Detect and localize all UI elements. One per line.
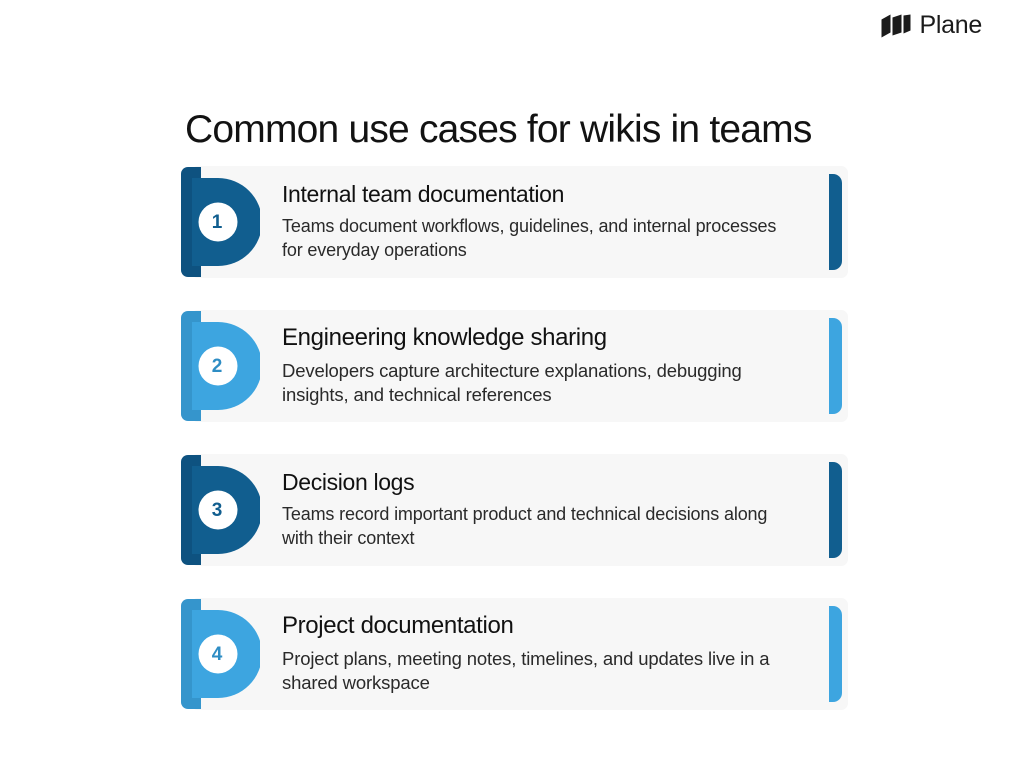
brand-name: Plane <box>920 13 982 38</box>
card-text: Engineering knowledge sharing Developers… <box>260 310 848 422</box>
card-text: Decision logs Teams record important pro… <box>260 454 848 566</box>
step-marker-icon: 3 <box>178 454 260 566</box>
card-description: Developers capture architecture explanat… <box>282 359 788 408</box>
accent-bar <box>829 462 842 558</box>
accent-bar <box>829 318 842 414</box>
step-marker-icon: 2 <box>178 310 260 422</box>
list-item: 1 Internal team documentation Teams docu… <box>178 166 848 278</box>
list-item: 2 Engineering knowledge sharing Develope… <box>178 310 848 422</box>
accent-bar <box>829 174 842 270</box>
card-description: Project plans, meeting notes, timelines,… <box>282 647 788 696</box>
card-title: Engineering knowledge sharing <box>282 324 788 353</box>
card-text: Project documentation Project plans, mee… <box>260 598 848 710</box>
plane-logo-icon <box>881 14 911 38</box>
list-item: 4 Project documentation Project plans, m… <box>178 598 848 710</box>
list-item: 3 Decision logs Teams record important p… <box>178 454 848 566</box>
step-marker-icon: 1 <box>178 166 260 278</box>
step-marker-icon: 4 <box>178 598 260 710</box>
card-title: Project documentation <box>282 612 788 641</box>
brand-logo: Plane <box>881 13 982 38</box>
card-description: Teams record important product and techn… <box>282 503 788 551</box>
use-case-list: 1 Internal team documentation Teams docu… <box>178 166 848 710</box>
card-title: Internal team documentation <box>282 181 788 209</box>
accent-bar <box>829 606 842 702</box>
card-title: Decision logs <box>282 469 788 497</box>
card-description: Teams document workflows, guidelines, an… <box>282 215 788 263</box>
page-title: Common use cases for wikis in teams <box>185 108 812 153</box>
card-text: Internal team documentation Teams docume… <box>260 166 848 278</box>
